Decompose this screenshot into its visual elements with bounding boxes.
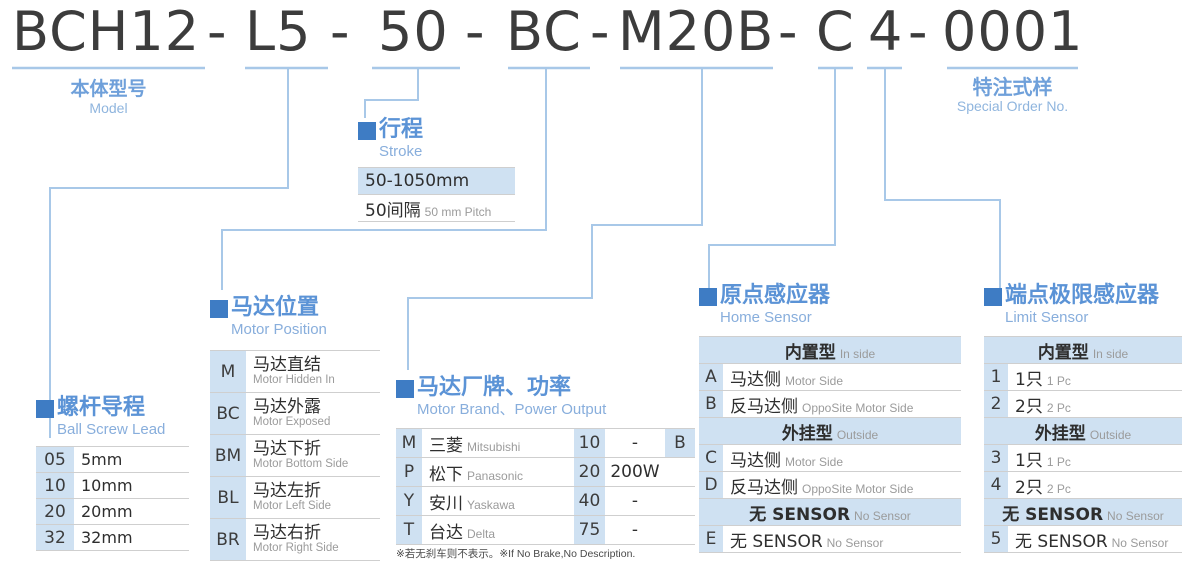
motor-position-cn: 马达外露: [253, 398, 380, 416]
stroke-heading-en: Stroke: [379, 143, 423, 160]
limit-sensor-value-2: 2只2 Pc: [1008, 391, 1182, 418]
motor-brand-watt-Y: -: [605, 487, 665, 516]
code-segment-motor-brand: M20B: [618, 2, 774, 62]
code-dash-6: -: [908, 2, 928, 62]
stroke-heading-cn: 行程: [379, 118, 423, 142]
table-row[interactable]: 50间隔50 mm Pitch: [358, 195, 515, 222]
table-row[interactable]: BC马达外露Motor Exposed: [210, 393, 380, 435]
motor-position-en: Motor Hidden In: [253, 374, 380, 387]
bullet-square-icon: [984, 288, 1002, 306]
motor-position-en: Motor Left Side: [253, 500, 380, 513]
table-row[interactable]: 2020mm: [36, 499, 189, 525]
sensor-subheader: 无 SENSORNo Sensor: [699, 499, 961, 526]
table-row[interactable]: 3232mm: [36, 525, 189, 551]
table-row[interactable]: C马达侧Motor Side: [699, 445, 961, 472]
code-segment-lead: L5: [245, 2, 311, 62]
limit-sensor-key-1: 1: [984, 364, 1008, 391]
motor-brand-key-P: P: [396, 458, 422, 487]
table-row[interactable]: T台达Delta75-: [396, 516, 695, 545]
motor-brand-note-en: ※If No Brake,No Description.: [499, 548, 635, 560]
group-home-sensor-heading: 原点感应器 Home Sensor: [699, 284, 830, 326]
code-segment-model: BCH12: [12, 2, 200, 62]
code-dash-2: -: [330, 2, 350, 62]
product-code-diagram: BCH12 - L5 - 50 - BC - M20B - C 4 - 0001…: [0, 0, 1200, 575]
lead-value-10: 10mm: [74, 473, 189, 499]
limit-sensor-en: 2 Pc: [1043, 482, 1071, 496]
group-stroke-heading: 行程 Stroke: [358, 118, 423, 160]
code-segment-limit-sensor: 4: [868, 2, 903, 62]
code-dash-3: -: [465, 2, 485, 62]
home-sensor-en: Motor Side: [781, 374, 843, 388]
motor-brand-en: Mitsubishi: [463, 440, 520, 454]
home-sensor-cn: 无 SENSOR: [730, 532, 823, 552]
bullet-square-icon: [358, 122, 376, 140]
ball-screw-lead-table: 055mm1010mm2020mm3232mm: [36, 446, 189, 551]
motor-position-cn: 马达右折: [253, 524, 380, 542]
table-row[interactable]: Y安川Yaskawa40-: [396, 487, 695, 516]
motor-position-heading-en: Motor Position: [231, 321, 327, 338]
limit-sensor-heading-cn: 端点极限感应器: [1005, 284, 1159, 308]
stroke-pitch-cn: 50间隔: [365, 201, 421, 221]
code-segment-home-sensor: C: [816, 2, 855, 62]
limit-sensor-value-5: 无 SENSORNo Sensor: [1008, 526, 1182, 553]
code-segment-motor-pos: BC: [506, 2, 582, 62]
sensor-subheader-cn: 无 SENSOR: [1002, 505, 1103, 525]
table-row[interactable]: 42只2 Pc: [984, 472, 1182, 499]
bullet-square-icon: [210, 300, 228, 318]
lead-key-10: 10: [36, 473, 74, 499]
table-row[interactable]: 无 SENSORNo Sensor: [699, 499, 961, 526]
home-sensor-cn: 反马达侧: [730, 397, 798, 417]
limit-sensor-cn: 2只: [1015, 478, 1043, 498]
motor-brand-name-T: 台达Delta: [422, 516, 574, 545]
limit-sensor-key-4: 4: [984, 472, 1008, 499]
lead-key-20: 20: [36, 499, 74, 525]
code-dash-4: -: [590, 2, 610, 62]
table-row[interactable]: M三菱Mitsubishi10-B: [396, 429, 695, 458]
motor-brand-heading-en: Motor Brand、Power Output: [417, 401, 606, 418]
sensor-subheader-en: In side: [836, 347, 875, 361]
home-sensor-en: No Sensor: [823, 536, 884, 550]
motor-brand-power-P: 20: [574, 458, 605, 487]
lead-value-text: 10mm: [81, 476, 133, 495]
code-segment-special-order: 0001: [942, 2, 1083, 62]
motor-brand-en: Panasonic: [463, 469, 523, 483]
motor-brand-name-P: 松下Panasonic: [422, 458, 574, 487]
motor-brand-note: ※若无刹车则不表示。※If No Brake,No Description.: [396, 546, 635, 561]
motor-position-value-BR: 马达右折Motor Right Side: [246, 519, 380, 561]
motor-position-en: Motor Bottom Side: [253, 458, 380, 471]
limit-sensor-en: 1 Pc: [1043, 455, 1071, 469]
motor-brand-key-T: T: [396, 516, 422, 545]
table-row[interactable]: M马达直结Motor Hidden In: [210, 351, 380, 393]
limit-sensor-value-4: 2只2 Pc: [1008, 472, 1182, 499]
sensor-subheader: 外挂型Outside: [984, 418, 1182, 445]
code-dash-1: -: [207, 2, 227, 62]
group-special-order: 特注式样 Special Order No.: [947, 76, 1078, 114]
motor-brand-key-Y: Y: [396, 487, 422, 516]
limit-sensor-en: 2 Pc: [1043, 401, 1071, 415]
special-order-label-en: Special Order No.: [947, 98, 1078, 114]
stroke-range: 50-1050mm: [365, 171, 469, 191]
motor-position-key-BL: BL: [210, 477, 246, 519]
lead-value-text: 20mm: [81, 502, 133, 521]
table-row[interactable]: 内置型In side: [699, 337, 961, 364]
limit-sensor-table: 内置型In side11只1 Pc22只2 Pc外挂型Outside31只1 P…: [984, 336, 1182, 553]
bullet-square-icon: [699, 288, 717, 306]
limit-sensor-value-1: 1只1 Pc: [1008, 364, 1182, 391]
home-sensor-value-E: 无 SENSORNo Sensor: [723, 526, 961, 553]
motor-position-key-BC: BC: [210, 393, 246, 435]
motor-brand-power-Y: 40: [574, 487, 605, 516]
motor-brand-watt-T: -: [605, 516, 665, 545]
motor-brand-name-Y: 安川Yaskawa: [422, 487, 574, 516]
table-row[interactable]: P松下Panasonic20200W: [396, 458, 695, 487]
table-row[interactable]: BL马达左折Motor Left Side: [210, 477, 380, 519]
home-sensor-key-E: E: [699, 526, 723, 553]
table-row[interactable]: 1010mm: [36, 473, 189, 499]
motor-brand-brake-M: B: [665, 429, 695, 458]
table-row[interactable]: 31只1 Pc: [984, 445, 1182, 472]
motor-position-value-M: 马达直结Motor Hidden In: [246, 351, 380, 393]
table-row[interactable]: D反马达侧OppoSite Motor Side: [699, 472, 961, 499]
home-sensor-value-B: 反马达侧OppoSite Motor Side: [723, 391, 961, 418]
sensor-subheader-en: No Sensor: [1103, 509, 1164, 523]
sensor-subheader: 外挂型Outside: [699, 418, 961, 445]
motor-brand-en: Yaskawa: [463, 498, 515, 512]
table-row[interactable]: 5无 SENSORNo Sensor: [984, 526, 1182, 553]
sensor-subheader-en: Outside: [1086, 428, 1131, 442]
lead-value-text: 5mm: [81, 450, 122, 469]
motor-brand-heading-cn: 马达厂牌、功率: [417, 376, 606, 400]
sensor-subheader-en: In side: [1089, 347, 1128, 361]
sensor-subheader-cn: 内置型: [1038, 343, 1089, 363]
motor-brand-watt-M: -: [605, 429, 665, 458]
home-sensor-cn: 马达侧: [730, 451, 781, 471]
motor-brand-en: Delta: [463, 527, 495, 541]
home-sensor-en: OppoSite Motor Side: [798, 482, 913, 496]
sensor-subheader-cn: 内置型: [785, 343, 836, 363]
sensor-subheader-cn: 外挂型: [1035, 424, 1086, 444]
home-sensor-value-A: 马达侧Motor Side: [723, 364, 961, 391]
motor-brand-cn: 台达: [429, 523, 463, 543]
home-sensor-en: Motor Side: [781, 455, 843, 469]
table-row[interactable]: B反马达侧OppoSite Motor Side: [699, 391, 961, 418]
limit-sensor-en: No Sensor: [1108, 536, 1169, 550]
motor-brand-cn: 松下: [429, 465, 463, 485]
table-row[interactable]: 50-1050mm: [358, 168, 515, 195]
motor-brand-name-M: 三菱Mitsubishi: [422, 429, 574, 458]
motor-position-heading-cn: 马达位置: [231, 296, 327, 320]
motor-brand-watt-text: 200W: [610, 462, 659, 482]
table-row[interactable]: 055mm: [36, 447, 189, 473]
home-sensor-key-A: A: [699, 364, 723, 391]
motor-brand-watt-text: -: [632, 433, 638, 453]
code-segment-stroke: 50: [378, 2, 449, 62]
home-sensor-key-C: C: [699, 445, 723, 472]
limit-sensor-cn: 1只: [1015, 451, 1043, 471]
motor-brand-brake-P: [665, 458, 695, 487]
lead-value-20: 20mm: [74, 499, 189, 525]
home-sensor-value-D: 反马达侧OppoSite Motor Side: [723, 472, 961, 499]
ball-screw-lead-heading-en: Ball Screw Lead: [57, 421, 165, 438]
home-sensor-key-B: B: [699, 391, 723, 418]
limit-sensor-key-2: 2: [984, 391, 1008, 418]
home-sensor-en: OppoSite Motor Side: [798, 401, 913, 415]
limit-sensor-key-5: 5: [984, 526, 1008, 553]
motor-brand-brake-T: [665, 516, 695, 545]
motor-brand-watt-text: -: [632, 491, 638, 511]
table-row[interactable]: 外挂型Outside: [699, 418, 961, 445]
sensor-subheader: 无 SENSORNo Sensor: [984, 499, 1182, 526]
group-motor-brand-heading: 马达厂牌、功率 Motor Brand、Power Output: [396, 376, 606, 418]
motor-brand-power-T: 75: [574, 516, 605, 545]
motor-position-table: M马达直结Motor Hidden InBC马达外露Motor ExposedB…: [210, 350, 380, 561]
stroke-table: 50-1050mm 50间隔50 mm Pitch: [358, 167, 515, 222]
motor-brand-table: M三菱Mitsubishi10-BP松下Panasonic20200WY安川Ya…: [396, 428, 695, 545]
sensor-subheader: 内置型In side: [699, 337, 961, 364]
motor-brand-watt-P: 200W: [605, 458, 665, 487]
home-sensor-table: 内置型In sideA马达侧Motor SideB反马达侧OppoSite Mo…: [699, 336, 961, 553]
special-order-label-cn: 特注式样: [947, 76, 1078, 98]
group-ball-screw-lead-heading: 螺杆导程 Ball Screw Lead: [36, 396, 165, 438]
motor-brand-cn: 安川: [429, 494, 463, 514]
limit-sensor-key-3: 3: [984, 445, 1008, 472]
bullet-square-icon: [396, 380, 414, 398]
motor-position-en: Motor Right Side: [253, 542, 380, 555]
motor-position-key-BR: BR: [210, 519, 246, 561]
motor-position-value-BC: 马达外露Motor Exposed: [246, 393, 380, 435]
sensor-subheader-en: Outside: [833, 428, 878, 442]
lead-value-05: 5mm: [74, 447, 189, 473]
motor-position-cn: 马达直结: [253, 356, 380, 374]
motor-brand-cn: 三菱: [429, 436, 463, 456]
motor-position-value-BM: 马达下折Motor Bottom Side: [246, 435, 380, 477]
home-sensor-heading-en: Home Sensor: [720, 309, 830, 326]
lead-value-text: 32mm: [81, 528, 133, 547]
motor-position-en: Motor Exposed: [253, 416, 380, 429]
model-label-en: Model: [12, 100, 205, 116]
bullet-square-icon: [36, 400, 54, 418]
motor-brand-power-M: 10: [574, 429, 605, 458]
table-row[interactable]: A马达侧Motor Side: [699, 364, 961, 391]
home-sensor-cn: 马达侧: [730, 370, 781, 390]
sensor-subheader: 内置型In side: [984, 337, 1182, 364]
product-code-string: BCH12 - L5 - 50 - BC - M20B - C 4 - 0001: [0, 2, 1200, 64]
lead-key-32: 32: [36, 525, 74, 551]
motor-brand-key-M: M: [396, 429, 422, 458]
ball-screw-lead-heading-cn: 螺杆导程: [57, 396, 165, 420]
limit-sensor-heading-en: Limit Sensor: [1005, 309, 1159, 326]
table-row[interactable]: 11只1 Pc: [984, 364, 1182, 391]
group-limit-sensor-heading: 端点极限感应器 Limit Sensor: [984, 284, 1159, 326]
motor-brand-brake-Y: [665, 487, 695, 516]
home-sensor-heading-cn: 原点感应器: [720, 284, 830, 308]
motor-position-value-BL: 马达左折Motor Left Side: [246, 477, 380, 519]
stroke-pitch-en: 50 mm Pitch: [421, 205, 492, 219]
motor-position-key-M: M: [210, 351, 246, 393]
table-row[interactable]: 22只2 Pc: [984, 391, 1182, 418]
sensor-subheader-cn: 外挂型: [782, 424, 833, 444]
table-row[interactable]: E无 SENSORNo Sensor: [699, 526, 961, 553]
table-row[interactable]: 无 SENSORNo Sensor: [984, 499, 1182, 526]
motor-position-key-BM: BM: [210, 435, 246, 477]
table-row[interactable]: BM马达下折Motor Bottom Side: [210, 435, 380, 477]
limit-sensor-cn: 无 SENSOR: [1015, 532, 1108, 552]
home-sensor-cn: 反马达侧: [730, 478, 798, 498]
limit-sensor-cn: 2只: [1015, 397, 1043, 417]
code-dash-5: -: [778, 2, 798, 62]
limit-sensor-cn: 1只: [1015, 370, 1043, 390]
sensor-subheader-en: No Sensor: [850, 509, 911, 523]
table-row[interactable]: 外挂型Outside: [984, 418, 1182, 445]
motor-position-cn: 马达左折: [253, 482, 380, 500]
lead-value-32: 32mm: [74, 525, 189, 551]
motor-brand-watt-text: -: [632, 520, 638, 540]
limit-sensor-en: 1 Pc: [1043, 374, 1071, 388]
limit-sensor-value-3: 1只1 Pc: [1008, 445, 1182, 472]
home-sensor-value-C: 马达侧Motor Side: [723, 445, 961, 472]
sensor-subheader-cn: 无 SENSOR: [749, 505, 850, 525]
model-label-cn: 本体型号: [12, 78, 205, 100]
group-model: 本体型号 Model: [12, 78, 205, 116]
lead-key-05: 05: [36, 447, 74, 473]
home-sensor-key-D: D: [699, 472, 723, 499]
table-row[interactable]: BR马达右折Motor Right Side: [210, 519, 380, 561]
motor-position-cn: 马达下折: [253, 440, 380, 458]
table-row[interactable]: 内置型In side: [984, 337, 1182, 364]
motor-brand-note-cn: ※若无刹车则不表示。: [396, 548, 499, 560]
group-motor-position-heading: 马达位置 Motor Position: [210, 296, 327, 338]
